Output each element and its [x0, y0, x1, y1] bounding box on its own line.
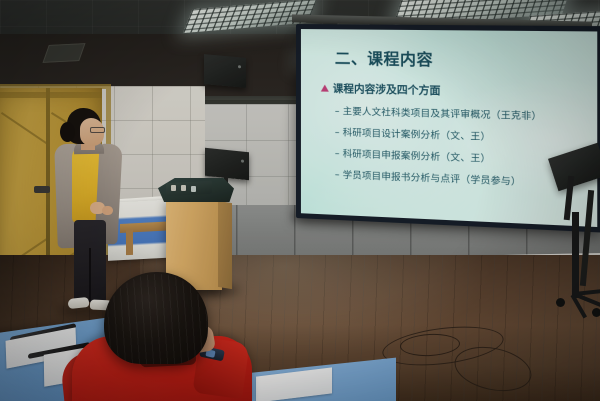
- slide-main-bullet-label: 课程内容涉及四个方面: [333, 81, 441, 98]
- slide-title: 二、课程内容: [335, 46, 584, 72]
- dash-marker-icon: –: [335, 127, 340, 138]
- projection-screen: 二、课程内容 课程内容涉及四个方面 –主要人文社科类项目及其评审概况（王克非） …: [296, 24, 600, 233]
- speaker-led-icon: [238, 65, 241, 68]
- podium-button[interactable]: [191, 186, 196, 192]
- podium-button[interactable]: [171, 185, 176, 191]
- slide-content: 二、课程内容 课程内容涉及四个方面 –主要人文社科类项目及其评审概况（王克非） …: [301, 29, 597, 227]
- door-rail: [0, 92, 102, 98]
- wall-speaker: [204, 54, 246, 88]
- dash-marker-icon: –: [335, 169, 340, 180]
- lecture-hall-photo: 二、课程内容 课程内容涉及四个方面 –主要人文社科类项目及其评审概况（王克非） …: [0, 0, 600, 401]
- slide-sub-bullet: –学员项目申报书分析与点评（学员参与）: [335, 166, 584, 190]
- slide-sub-bullet: –科研项目设计案例分析（文、王）: [335, 124, 584, 146]
- slide-main-bullet: 课程内容涉及四个方面: [321, 80, 584, 101]
- slide-sub-bullet-label: 科研项目申报案例分析（文、王）: [343, 149, 491, 165]
- presenter-hair-bun: [60, 122, 75, 142]
- dash-marker-icon: –: [335, 148, 340, 159]
- podium-side-panel: [218, 201, 232, 289]
- presenter-hand: [102, 206, 113, 215]
- ceiling-vent-icon: [42, 43, 85, 63]
- triangle-marker-icon: [321, 84, 329, 91]
- equipment-stand-pole: [572, 212, 579, 298]
- projection-screen-surface: 二、课程内容 课程内容涉及四个方面 –主要人文社科类项目及其评审概况（王克非） …: [301, 29, 597, 227]
- equipment-stand-wheel: [592, 308, 600, 317]
- podium-button[interactable]: [181, 185, 186, 191]
- slide-sub-bullet: –主要人文社科类项目及其评审概况（王克非）: [335, 103, 584, 124]
- slide-sub-bullet: –科研项目申报案例分析（文、王）: [335, 145, 584, 168]
- slide-sub-bullet-label: 主要人文社科类项目及其评审概况（王克非）: [343, 106, 542, 122]
- speaker-led-icon: [241, 159, 244, 162]
- dash-marker-icon: –: [335, 106, 340, 117]
- glasses-icon: [90, 127, 105, 133]
- equipment-stand-wheel: [556, 298, 565, 307]
- slide-sub-bullet-label: 学员项目申报书分析与点评（学员参与）: [343, 170, 521, 188]
- slide-sub-bullet-label: 科研项目设计案例分析（文、王）: [343, 127, 491, 143]
- presenter: [50, 108, 128, 320]
- audience-hair-texture: [104, 274, 208, 364]
- presenter-leg-split: [89, 248, 91, 302]
- door-handle[interactable]: [34, 186, 50, 193]
